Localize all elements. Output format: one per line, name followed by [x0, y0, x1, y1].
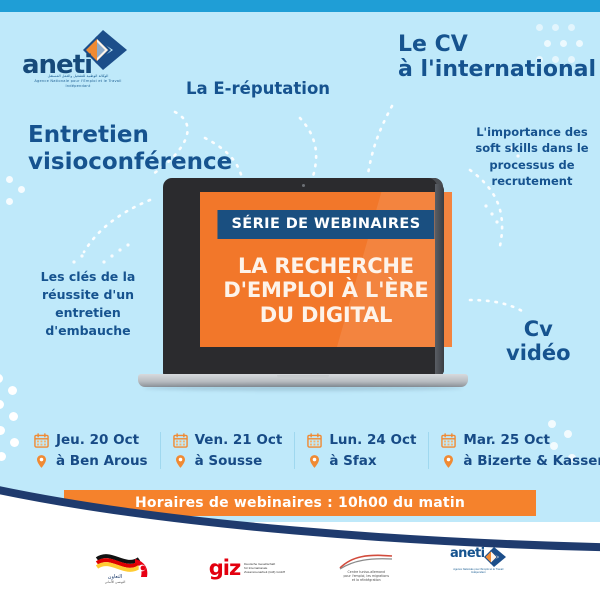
laptop-lid-right-edge	[435, 184, 444, 374]
aneti-footer-wordmark: aneti	[450, 546, 485, 561]
aneti-footer-subtitle: Agence Nationale pour l'Emploi et le Tra…	[447, 568, 509, 575]
calendar-icon	[307, 433, 322, 448]
webinar-title: LA RECHERCHE D'EMPLOI À L'ÈRE DU DIGITAL	[200, 254, 452, 327]
place-row: à Ben Arous	[34, 453, 148, 469]
callout-cv-video-line2: vidéo	[506, 342, 571, 366]
giz-caption-line3: Zusammenarbeit (GIZ) GmbH	[244, 570, 285, 574]
laptop-shadow	[144, 385, 462, 391]
date-item[interactable]: Jeu. 20 Oct à Ben Arous	[22, 432, 160, 469]
place-row: à Sfax	[307, 453, 416, 469]
map-pin-icon	[173, 454, 188, 469]
svg-text:التونسي الألماني: التونسي الألماني	[104, 580, 125, 584]
callout-cv-international-line2: à l'international	[398, 57, 596, 82]
calendar-icon	[34, 433, 49, 448]
tunisia-germany-flag-logo: التعاون التونسي الألماني	[91, 546, 163, 590]
date-place: à Bizerte & Kasserine	[463, 453, 600, 469]
place-row: à Sousse	[173, 453, 283, 469]
date-place: à Sfax	[329, 453, 376, 469]
aneti-subtitle-fr: Agence Nationale pour l'Emploi et le Tra…	[24, 79, 132, 89]
callout-entretien-visio-line1: Entretien	[28, 122, 232, 149]
callout-cv-international: Le CV à l'international	[398, 32, 596, 82]
map-pin-icon	[441, 454, 456, 469]
partner-logos: التعاون التونسي الألماني giz Deutsche Ge…	[0, 542, 600, 594]
callout-entretien-visio-line2: visioconférence	[28, 149, 232, 176]
map-pin-icon	[307, 454, 322, 469]
aneti-footer-logo: aneti Agence Nationale pour l'Emploi et …	[447, 546, 509, 590]
schedule-text: Horaires de webinaires : 10h00 du matin	[135, 495, 465, 511]
top-accent-strip	[0, 0, 600, 12]
date-item[interactable]: Ven. 21 Oct à Sousse	[160, 432, 295, 469]
laptop-illustration: SÉRIE DE WEBINAIRES LA RECHERCHE D'EMPLO…	[138, 178, 468, 393]
calendar-icon	[173, 433, 188, 448]
date-item[interactable]: Mar. 25 Oct à Bizerte & Kasserine	[428, 432, 600, 469]
date-day: Lun. 24 Oct	[329, 432, 416, 448]
centre-swoosh-icon	[338, 554, 394, 570]
poster-canvas: aneti الوكالة الوطنية للتشغيل والعمل الم…	[0, 0, 600, 600]
date-item[interactable]: Lun. 24 Oct à Sfax	[294, 432, 428, 469]
webinar-series-badge: SÉRIE DE WEBINAIRES	[217, 210, 434, 239]
date-row: Mar. 25 Oct	[441, 432, 600, 448]
centre-caption-line3: et la réintégration	[331, 578, 401, 582]
date-row: Jeu. 20 Oct	[34, 432, 148, 448]
schedule-banner: Horaires de webinaires : 10h00 du matin	[64, 490, 536, 516]
callout-cles-entretien: Les clés de la réussite d'un entretien d…	[24, 268, 152, 341]
callout-cv-video: Cv vidéo	[506, 318, 571, 366]
giz-caption: Deutsche Gesellschaft für Internationale…	[244, 562, 285, 574]
callout-entretien-visio: Entretien visioconférence	[28, 122, 232, 175]
laptop-base-notch	[277, 375, 329, 379]
centre-tuniso-allemand-logo: Centre tuniso-allemand pour l'emploi, le…	[331, 546, 401, 590]
webcam-icon	[302, 184, 305, 187]
aneti-footer-diamond-icon	[481, 546, 507, 568]
calendar-icon	[441, 433, 456, 448]
session-dates-row: Jeu. 20 Oct à Ben Arous Ven. 21	[22, 432, 578, 484]
webinar-title-line3: DU DIGITAL	[200, 303, 452, 327]
aneti-logo: aneti الوكالة الوطنية للتشغيل والعمل الم…	[22, 28, 132, 90]
centre-caption: Centre tuniso-allemand pour l'emploi, le…	[331, 570, 401, 583]
webinar-title-line1: LA RECHERCHE	[200, 254, 452, 278]
date-row: Ven. 21 Oct	[173, 432, 283, 448]
aneti-logo-subtitle: الوكالة الوطنية للتشغيل والعمل المستقل A…	[24, 74, 132, 90]
map-pin-icon	[34, 454, 49, 469]
giz-logo: giz Deutsche Gesellschaft für Internatio…	[209, 546, 286, 590]
date-place: à Sousse	[195, 453, 263, 469]
date-place: à Ben Arous	[56, 453, 148, 469]
place-row: à Bizerte & Kasserine	[441, 453, 600, 469]
callout-e-reputation: La E-réputation	[186, 80, 330, 98]
callout-cv-video-line1: Cv	[506, 318, 571, 342]
date-row: Lun. 24 Oct	[307, 432, 416, 448]
laptop-lid: SÉRIE DE WEBINAIRES LA RECHERCHE D'EMPLO…	[163, 178, 443, 376]
webinar-title-line2: D'EMPLOI À L'ÈRE	[200, 278, 452, 302]
giz-wordmark: giz	[209, 558, 240, 579]
callout-soft-skills: L'importance des soft skills dans le pro…	[470, 124, 594, 189]
date-day: Jeu. 20 Oct	[56, 432, 139, 448]
callout-cv-international-line1: Le CV	[398, 32, 596, 57]
laptop-screen: SÉRIE DE WEBINAIRES LA RECHERCHE D'EMPLO…	[200, 192, 452, 347]
date-day: Ven. 21 Oct	[195, 432, 283, 448]
date-day: Mar. 25 Oct	[463, 432, 550, 448]
